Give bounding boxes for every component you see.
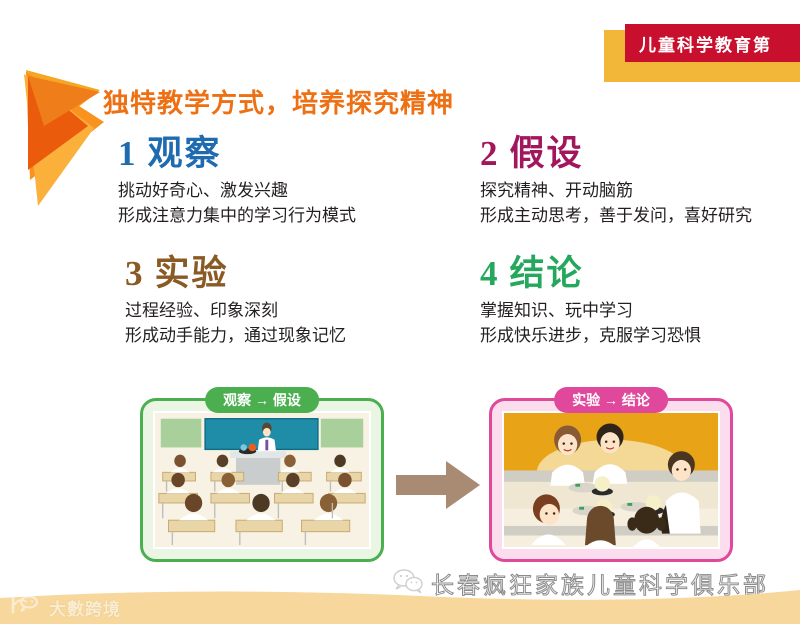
step-2-line-1: 探究精神、开动脑筋	[480, 179, 800, 204]
step-3-number: 3	[125, 254, 143, 293]
panel-left-label: 观察 → 假设	[205, 387, 319, 413]
step-block-3: 3实验 过程经验、印象深刻 形成动手能力，通过现象记忆	[125, 256, 485, 349]
orange-starburst-icon	[4, 30, 124, 210]
panel-right-label: 实验 → 结论	[554, 387, 668, 413]
step-4-line-1: 掌握知识、玩中学习	[480, 299, 800, 324]
classroom-lecture-illustration	[153, 411, 371, 549]
step-4-word: 结论	[510, 254, 584, 293]
step-2-line-2: 形成主动思考，善于发问，喜好研究	[480, 204, 800, 229]
panel-observation-hypothesis: 观察 → 假设	[140, 398, 384, 562]
step-1-number: 1	[118, 134, 136, 173]
step-1-heading: 1观察	[118, 136, 478, 173]
banner-title-bar: 儿童科学教育第	[625, 24, 800, 62]
step-2-description: 探究精神、开动脑筋 形成主动思考，善于发问，喜好研究	[480, 179, 800, 229]
step-1-description: 挑动好奇心、激发兴趣 形成注意力集中的学习行为模式	[118, 179, 478, 229]
step-4-line-2: 形成快乐进步，克服学习恐惧	[480, 324, 800, 349]
step-1-line-1: 挑动好奇心、激发兴趣	[118, 179, 478, 204]
panel-experiment-conclusion: 实验 → 结论	[489, 398, 733, 562]
step-4-heading: 4结论	[480, 256, 800, 293]
step-1-word: 观察	[148, 134, 222, 173]
step-3-heading: 3实验	[125, 256, 485, 293]
step-3-word: 实验	[155, 254, 229, 293]
footer-logo: 大數跨境	[10, 595, 121, 620]
step-2-word: 假设	[510, 134, 584, 173]
step-block-2: 2假设 探究精神、开动脑筋 形成主动思考，善于发问，喜好研究	[480, 136, 800, 229]
lab-experiment-group-illustration	[502, 411, 720, 549]
step-2-number: 2	[480, 134, 498, 173]
step-4-description: 掌握知识、玩中学习 形成快乐进步，克服学习恐惧	[480, 299, 800, 349]
slide-canvas: 儿童科学教育第 独特教学方式，培养探究精神 1观察 挑动好奇心、激发兴趣 形成注…	[0, 0, 800, 624]
step-2-heading: 2假设	[480, 136, 800, 173]
footer-logo-text: 大數跨境	[49, 595, 121, 620]
step-3-description: 过程经验、印象深刻 形成动手能力，通过现象记忆	[125, 299, 485, 349]
right-arrow-icon	[396, 457, 480, 513]
step-block-4: 4结论 掌握知识、玩中学习 形成快乐进步，克服学习恐惧	[480, 256, 800, 349]
step-4-number: 4	[480, 254, 498, 293]
step-3-line-2: 形成动手能力，通过现象记忆	[125, 324, 485, 349]
banner-title-text: 儿童科学教育第	[639, 31, 772, 56]
step-block-1: 1观察 挑动好奇心、激发兴趣 形成注意力集中的学习行为模式	[118, 136, 478, 229]
step-1-line-2: 形成注意力集中的学习行为模式	[118, 204, 478, 229]
page-title: 独特教学方式，培养探究精神	[103, 83, 454, 120]
dashu-logo-icon	[10, 595, 44, 620]
step-3-line-1: 过程经验、印象深刻	[125, 299, 485, 324]
